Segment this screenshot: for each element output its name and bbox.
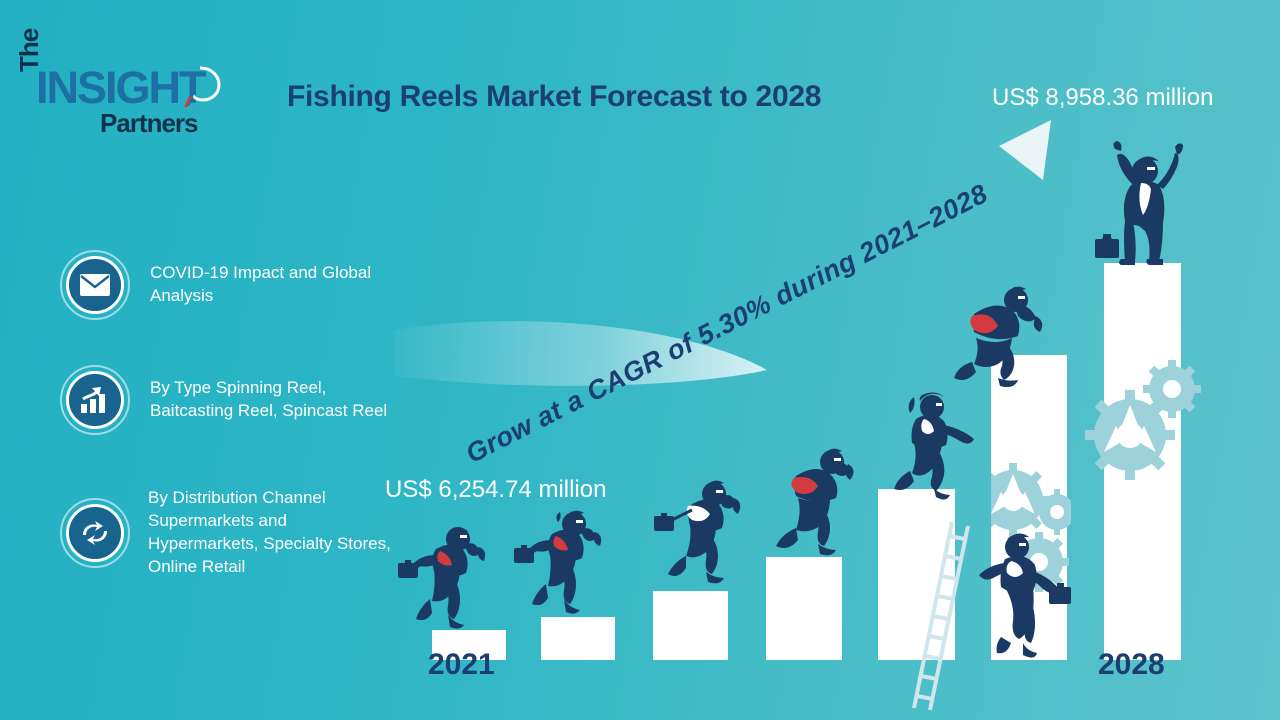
- running-businessman-briefcase: [650, 470, 765, 600]
- infographic-canvas: The INSIGHT Partners Fishing Reels Marke…: [0, 0, 1280, 720]
- growth-bar-chart-icon: [80, 386, 110, 414]
- feature-item-by-type[interactable]: By Type Spinning Reel, Baitcasting Reel,…: [60, 365, 400, 435]
- feature-icon-ring: [60, 365, 130, 435]
- feature-item-covid-impact[interactable]: COVID-19 Impact and Global Analysis: [60, 250, 400, 320]
- feature-icon-ring: [60, 498, 130, 568]
- bar-2024: [766, 557, 842, 660]
- distribution-cycle-icon: [79, 519, 111, 547]
- brand-logo[interactable]: The INSIGHT Partners: [8, 28, 238, 133]
- running-businesswoman: [890, 385, 995, 500]
- bar-2023: [653, 591, 728, 660]
- magnifier-loop-icon: [176, 62, 222, 112]
- axis-label-2028: 2028: [1098, 648, 1165, 682]
- feature-icon-disc: [69, 507, 121, 559]
- running-businessman-briefcase: [512, 500, 617, 625]
- page-title: Fishing Reels Market Forecast to 2028: [287, 80, 927, 114]
- feature-label: COVID-19 Impact and Global Analysis: [150, 262, 400, 308]
- feature-icon-ring: [60, 250, 130, 320]
- feature-item-distribution-channel[interactable]: By Distribution Channel Supermarkets and…: [60, 487, 398, 579]
- running-businessman-briefcase: [396, 515, 501, 635]
- ladder-icon: [900, 520, 980, 710]
- feature-icon-disc: [69, 374, 121, 426]
- feature-icon-disc: [69, 259, 121, 311]
- end-value-label: US$ 8,958.36 million: [992, 84, 1280, 112]
- feature-label: By Distribution Channel Supermarkets and…: [148, 487, 398, 579]
- envelope-icon: [80, 274, 110, 296]
- running-businessman-briefcase: [768, 440, 878, 565]
- axis-label-2021: 2021: [428, 648, 495, 682]
- brand-partners-text: Partners: [100, 108, 198, 139]
- businessman-with-ladder: [975, 525, 1080, 665]
- feature-label: By Type Spinning Reel, Baitcasting Reel,…: [150, 377, 400, 423]
- celebrating-businessman: [1095, 135, 1195, 270]
- climbing-businessman: [952, 278, 1062, 393]
- gears-icon: [1100, 355, 1190, 505]
